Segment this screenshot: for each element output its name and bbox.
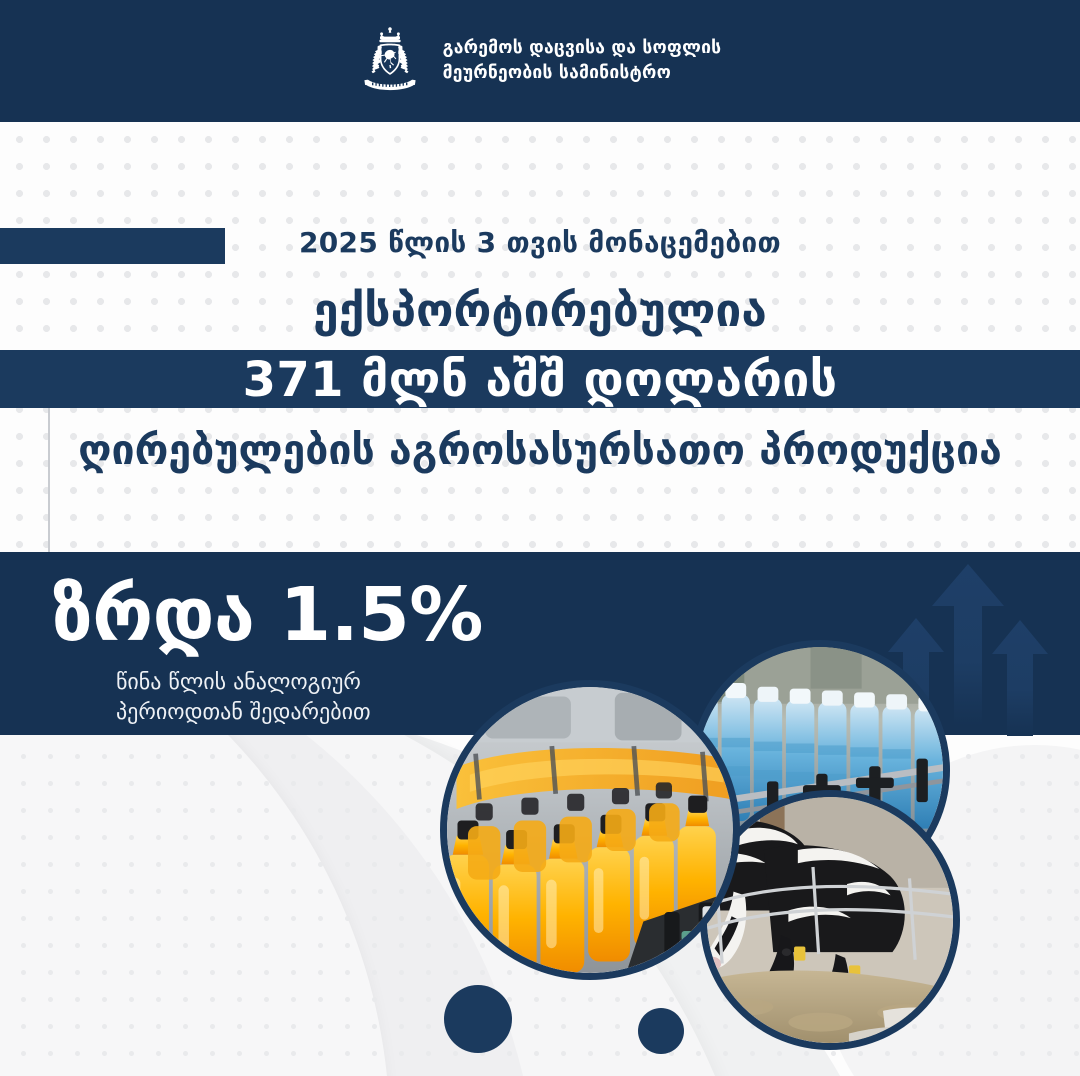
decorative-dot-small xyxy=(638,1008,684,1054)
header-bar: გარემოს დაცვისა და სოფლის მეურნეობის სამ… xyxy=(0,0,1080,122)
growth-comparison-label: წინა წლის ანალოგიურ პერიოდთან შედარებით xyxy=(116,668,371,727)
period-kicker: 2025 წლის 3 თვის მონაცემებით xyxy=(0,226,1080,259)
decorative-dot-large xyxy=(444,985,512,1053)
georgia-coat-of-arms-icon xyxy=(359,24,421,98)
growth-headline: ზრდა 1.5% xyxy=(52,572,483,658)
headline-line-3: ღირებულების აგროსასურსათო პროდუქცია xyxy=(0,424,1080,476)
juice-bottling-line-photo xyxy=(440,680,740,980)
headline-amount: 371 მლნ აშშ დოლარის xyxy=(0,352,1080,408)
headline-line-1: ექსპორტირებულია xyxy=(0,283,1080,337)
ministry-name-label: გარემოს დაცვისა და სოფლის მეურნეობის სამ… xyxy=(443,36,722,86)
infographic-poster: გარემოს დაცვისა და სოფლის მეურნეობის სამ… xyxy=(0,0,1080,1076)
